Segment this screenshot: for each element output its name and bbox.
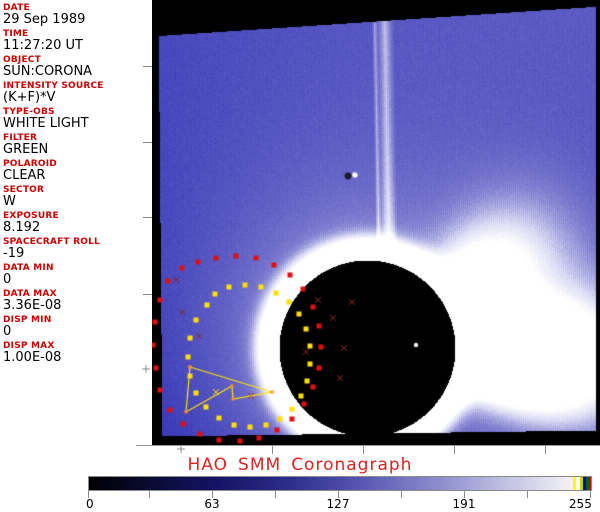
metadata-value: W xyxy=(3,194,150,209)
axis-tick xyxy=(545,445,546,454)
metadata-value: SUN:CORONA xyxy=(3,64,150,79)
corona-canvas[interactable] xyxy=(152,0,600,445)
colorbar-gradient[interactable] xyxy=(88,476,592,491)
colorbar-tick-labels: 063127191255 xyxy=(88,498,592,512)
metadata-item-data-min: DATA MIN0 xyxy=(3,263,150,287)
metadata-item-time: TIME11:27:20 UT xyxy=(3,29,150,53)
colorbar-special-band xyxy=(589,477,592,490)
figure-title: HAOSMMCoronagraph xyxy=(0,456,600,474)
metadata-item-disp-max: DISP MAX1.00E-08 xyxy=(3,341,150,365)
metadata-value: 11:27:20 UT xyxy=(3,38,150,53)
metadata-value: -19 xyxy=(3,246,150,261)
metadata-item-exposure: EXPOSURE8.192 xyxy=(3,211,150,235)
metadata-item-sector: SECTORW xyxy=(3,185,150,209)
axis-center-mark: + xyxy=(141,363,151,375)
title-instrument: Coronagraph xyxy=(291,455,412,475)
metadata-item-polaroid: POLAROIDCLEAR xyxy=(3,159,150,183)
axis-tick xyxy=(454,445,455,454)
metadata-value: 1.00E-08 xyxy=(3,350,150,365)
colorbar-tick-label: 191 xyxy=(453,498,476,511)
metadata-value: (K+F)*V xyxy=(3,90,150,105)
metadata-list: DATE29 Sep 1989TIME11:27:20 UTOBJECTSUN:… xyxy=(3,3,150,365)
axis-tick xyxy=(143,66,152,67)
metadata-item-intensity-source: INTENSITY SOURCE(K+F)*V xyxy=(3,81,150,105)
metadata-item-object: OBJECTSUN:CORONA xyxy=(3,55,150,79)
axis-tick xyxy=(363,445,364,454)
axis-tick xyxy=(272,445,273,454)
metadata-item-data-max: DATA MAX3.36E-08 xyxy=(3,289,150,313)
colorbar-tick-label: 63 xyxy=(204,498,219,511)
metadata-value: GREEN xyxy=(3,142,150,157)
metadata-item-spacecraft-roll: SPACECRAFT ROLL-19 xyxy=(3,237,150,261)
metadata-panel: DATE29 Sep 1989TIME11:27:20 UTOBJECTSUN:… xyxy=(0,0,150,445)
axis-tick xyxy=(143,294,152,295)
colorbar-tick xyxy=(149,491,150,498)
colorbar-tick xyxy=(275,491,276,498)
metadata-value: 3.36E-08 xyxy=(3,298,150,313)
colorbar-tick xyxy=(401,491,402,498)
metadata-value: WHITE LIGHT xyxy=(3,116,150,131)
image-axis-baseline xyxy=(136,445,600,446)
metadata-value: 0 xyxy=(3,324,150,339)
metadata-value: CLEAR xyxy=(3,168,150,183)
coronagraph-image[interactable] xyxy=(152,0,600,445)
title-smm: SMM xyxy=(238,455,281,475)
metadata-item-date: DATE29 Sep 1989 xyxy=(3,3,150,27)
metadata-item-disp-min: DISP MIN0 xyxy=(3,315,150,339)
coronagraph-viewer: DATE29 Sep 1989TIME11:27:20 UTOBJECTSUN:… xyxy=(0,0,600,512)
colorbar-tick-label: 255 xyxy=(569,498,592,511)
metadata-value: 8.192 xyxy=(3,220,150,235)
title-hao: HAO xyxy=(188,455,229,475)
colorbar[interactable]: 063127191255 xyxy=(88,476,592,512)
metadata-value: 0 xyxy=(3,272,150,287)
axis-tick xyxy=(143,142,152,143)
colorbar-ramp xyxy=(89,477,591,490)
metadata-item-filter: FILTERGREEN xyxy=(3,133,150,157)
colorbar-special-band xyxy=(573,477,577,490)
colorbar-tick xyxy=(527,491,528,498)
colorbar-tick-label: 0 xyxy=(86,498,94,511)
metadata-item-type-obs: TYPE-OBSWHITE LIGHT xyxy=(3,107,150,131)
colorbar-tick-label: 127 xyxy=(327,498,350,511)
axis-tick xyxy=(143,217,152,218)
metadata-value: 29 Sep 1989 xyxy=(3,12,150,27)
image-axis-left: + xyxy=(136,0,152,445)
